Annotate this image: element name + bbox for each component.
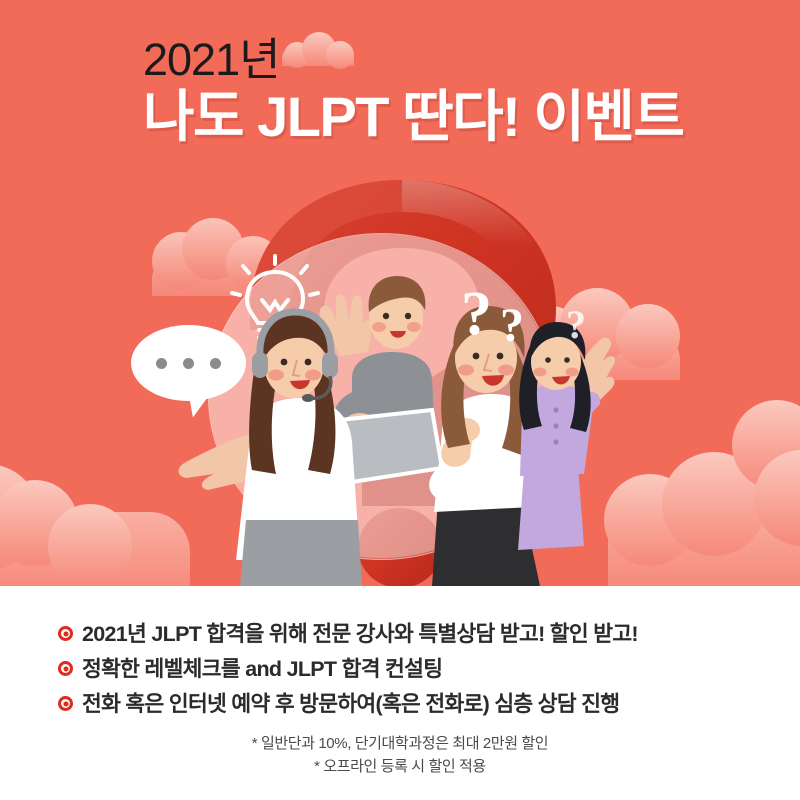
target-bullet-icon xyxy=(58,626,73,641)
target-bullet-icon xyxy=(58,661,73,676)
speech-bubble-tail xyxy=(183,386,213,419)
footnote: * 일반단과 10%, 단기대학과정은 최대 2만원 할인 xyxy=(0,732,800,755)
benefit-list: 2021년 JLPT 합격을 위해 전문 강사와 특별상담 받고! 할인 받고!… xyxy=(58,619,758,724)
event-banner: 2021년 나도 JLPT 딴다! 이벤트 xyxy=(0,0,800,800)
bubble-dot xyxy=(183,358,194,369)
target-bullet-icon xyxy=(58,696,73,711)
benefit-text: 정확한 레벨체크를 and JLPT 합격 컨설팅 xyxy=(82,654,442,684)
bubble-dot xyxy=(210,358,221,369)
question-mark-small-1: ? xyxy=(461,283,492,345)
person-woman-purple xyxy=(518,322,615,550)
hero-section: 2021년 나도 JLPT 딴다! 이벤트 xyxy=(0,0,800,586)
question-mark-small-3: ? xyxy=(566,305,586,345)
list-item: 정확한 레벨체크를 and JLPT 합격 컨설팅 xyxy=(58,654,758,685)
footnote: * 오프라인 등록 시 할인 적용 xyxy=(0,755,800,778)
footnotes: * 일반단과 10%, 단기대학과정은 최대 2만원 할인 * 오프라인 등록 … xyxy=(0,732,800,778)
list-item: 전화 혹은 인터넷 예약 후 방문하여(혹은 전화로) 심층 상담 진행 xyxy=(58,689,758,720)
people-illustration xyxy=(0,0,800,586)
benefit-text: 2021년 JLPT 합격을 위해 전문 강사와 특별상담 받고! 할인 받고! xyxy=(82,619,638,649)
illustration: ? ? ? xyxy=(0,0,800,586)
question-mark-small-2: ? xyxy=(500,302,524,350)
bubble-dot xyxy=(156,358,167,369)
benefit-text: 전화 혹은 인터넷 예약 후 방문하여(혹은 전화로) 심층 상담 진행 xyxy=(82,689,619,719)
list-item: 2021년 JLPT 합격을 위해 전문 강사와 특별상담 받고! 할인 받고! xyxy=(58,619,758,650)
info-section: 2021년 JLPT 합격을 위해 전문 강사와 특별상담 받고! 할인 받고!… xyxy=(0,586,800,800)
